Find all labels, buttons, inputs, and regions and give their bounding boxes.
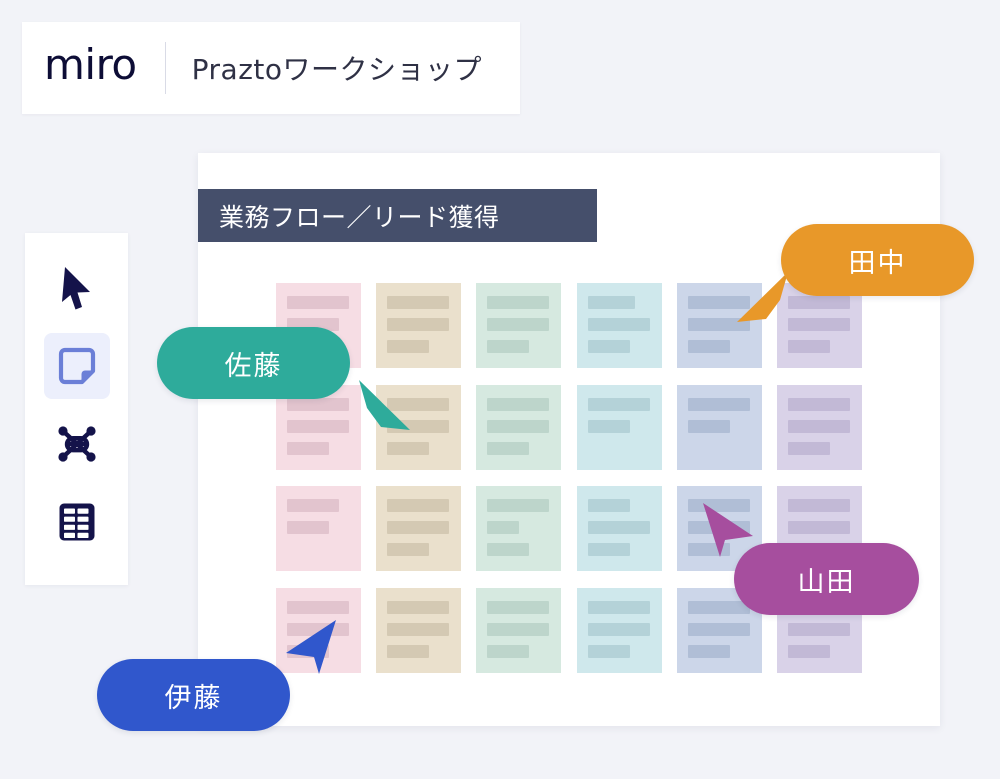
sticky-note-text-line bbox=[588, 645, 630, 658]
board-title: 業務フロー／リード獲得 bbox=[219, 198, 500, 234]
tool-button-sticky-note[interactable] bbox=[44, 333, 110, 399]
sticky-note-text-line bbox=[387, 543, 429, 556]
sticky-note-text-line bbox=[487, 543, 529, 556]
toolbar bbox=[25, 233, 128, 585]
sticky-note-text-line bbox=[788, 398, 850, 411]
sticky-note-text-line bbox=[688, 601, 750, 614]
sticky-note-text-line bbox=[588, 499, 630, 512]
sticky-note-text-line bbox=[688, 340, 730, 353]
sticky-note-text-line bbox=[387, 296, 449, 309]
sticky-note-text-line bbox=[487, 296, 549, 309]
header-card: miro Praztoワークショップ bbox=[22, 22, 520, 114]
sticky-note-text-line bbox=[688, 398, 750, 411]
collaborator-name-pill: 伊藤 bbox=[97, 659, 290, 731]
sticky-note-text-line bbox=[387, 645, 429, 658]
sticky-note-text-line bbox=[588, 318, 650, 331]
sticky-note-text-line bbox=[788, 645, 830, 658]
sticky-note[interactable] bbox=[777, 385, 862, 470]
table-icon bbox=[57, 501, 97, 543]
sticky-note-text-line bbox=[487, 318, 549, 331]
board-title-bar: 業務フロー／リード獲得 bbox=[198, 189, 597, 242]
collaborator-name: 田中 bbox=[849, 241, 907, 280]
tool-button-cursor-select[interactable] bbox=[44, 255, 110, 321]
tool-button-connector[interactable] bbox=[44, 411, 110, 477]
miro-logo: miro bbox=[44, 44, 137, 92]
sticky-note-text-line bbox=[487, 420, 549, 433]
sticky-note-text-line bbox=[688, 623, 750, 636]
sticky-note[interactable] bbox=[677, 385, 762, 470]
sticky-note-text-line bbox=[788, 499, 850, 512]
sticky-note-text-line bbox=[287, 420, 349, 433]
sticky-note-text-line bbox=[588, 398, 650, 411]
sticky-note-text-line bbox=[387, 340, 429, 353]
sticky-note-text-line bbox=[387, 521, 449, 534]
sticky-note-text-line bbox=[588, 601, 650, 614]
sticky-note-text-line bbox=[487, 442, 529, 455]
sticky-note[interactable] bbox=[577, 385, 662, 470]
sticky-note-text-line bbox=[387, 318, 449, 331]
sticky-note[interactable] bbox=[476, 588, 561, 673]
sticky-note-text-line bbox=[788, 623, 850, 636]
sticky-note-text-line bbox=[487, 521, 519, 534]
sticky-note-text-line bbox=[287, 296, 349, 309]
sticky-note[interactable] bbox=[376, 486, 461, 571]
sticky-note-text-line bbox=[688, 645, 730, 658]
sticky-note-text-line bbox=[287, 521, 329, 534]
connector-icon bbox=[55, 424, 99, 464]
sticky-note-text-line bbox=[788, 318, 850, 331]
sticky-note-text-line bbox=[287, 398, 349, 411]
sticky-note-text-line bbox=[387, 601, 449, 614]
sticky-note-text-line bbox=[487, 499, 549, 512]
sticky-note-text-line bbox=[688, 420, 730, 433]
sticky-note-text-line bbox=[588, 340, 630, 353]
tool-button-table[interactable] bbox=[44, 489, 110, 555]
sticky-note-text-line bbox=[387, 442, 429, 455]
sticky-note[interactable] bbox=[476, 385, 561, 470]
sticky-note[interactable] bbox=[376, 588, 461, 673]
collaborator-name-pill: 山田 bbox=[734, 543, 919, 615]
sticky-note-text-line bbox=[387, 499, 449, 512]
sticky-note-text-line bbox=[487, 601, 549, 614]
sticky-note-text-line bbox=[788, 420, 850, 433]
collaborator-name-pill: 田中 bbox=[781, 224, 974, 296]
sticky-note-text-line bbox=[788, 296, 850, 309]
collaborator-name-pill: 佐藤 bbox=[157, 327, 350, 399]
sticky-note-text-line bbox=[487, 645, 529, 658]
sticky-note-text-line bbox=[387, 623, 449, 636]
header-divider bbox=[165, 42, 166, 94]
collaborator-cursor-arrow bbox=[285, 617, 339, 680]
sticky-note-text-line bbox=[788, 442, 830, 455]
sticky-note-text-line bbox=[588, 543, 630, 556]
sticky-note-text-line bbox=[788, 521, 850, 534]
sticky-note-text-line bbox=[287, 499, 339, 512]
collaborator-name: 山田 bbox=[798, 560, 856, 599]
sticky-note-icon bbox=[56, 345, 98, 387]
sticky-note-text-line bbox=[487, 340, 529, 353]
sticky-note-text-line bbox=[588, 521, 650, 534]
sticky-note[interactable] bbox=[577, 588, 662, 673]
collaborator-cursor-arrow bbox=[734, 270, 792, 329]
cursor-select-icon bbox=[56, 265, 98, 311]
sticky-note[interactable] bbox=[577, 486, 662, 571]
sticky-note-text-line bbox=[788, 340, 830, 353]
workshop-title: Praztoワークショップ bbox=[192, 48, 482, 88]
collaborator-name: 伊藤 bbox=[165, 676, 223, 715]
sticky-note-text-line bbox=[588, 296, 635, 309]
sticky-note[interactable] bbox=[577, 283, 662, 368]
collaborator-cursor-arrow bbox=[355, 378, 413, 437]
collaborator-name: 佐藤 bbox=[225, 344, 283, 383]
sticky-note-text-line bbox=[487, 398, 549, 411]
sticky-note-text-line bbox=[588, 420, 630, 433]
sticky-note-text-line bbox=[287, 442, 329, 455]
sticky-note-text-line bbox=[487, 623, 549, 636]
sticky-note[interactable] bbox=[376, 283, 461, 368]
sticky-note-text-line bbox=[287, 601, 349, 614]
sticky-note[interactable] bbox=[276, 486, 361, 571]
sticky-note-text-line bbox=[588, 623, 650, 636]
sticky-note[interactable] bbox=[476, 486, 561, 571]
sticky-note[interactable] bbox=[476, 283, 561, 368]
